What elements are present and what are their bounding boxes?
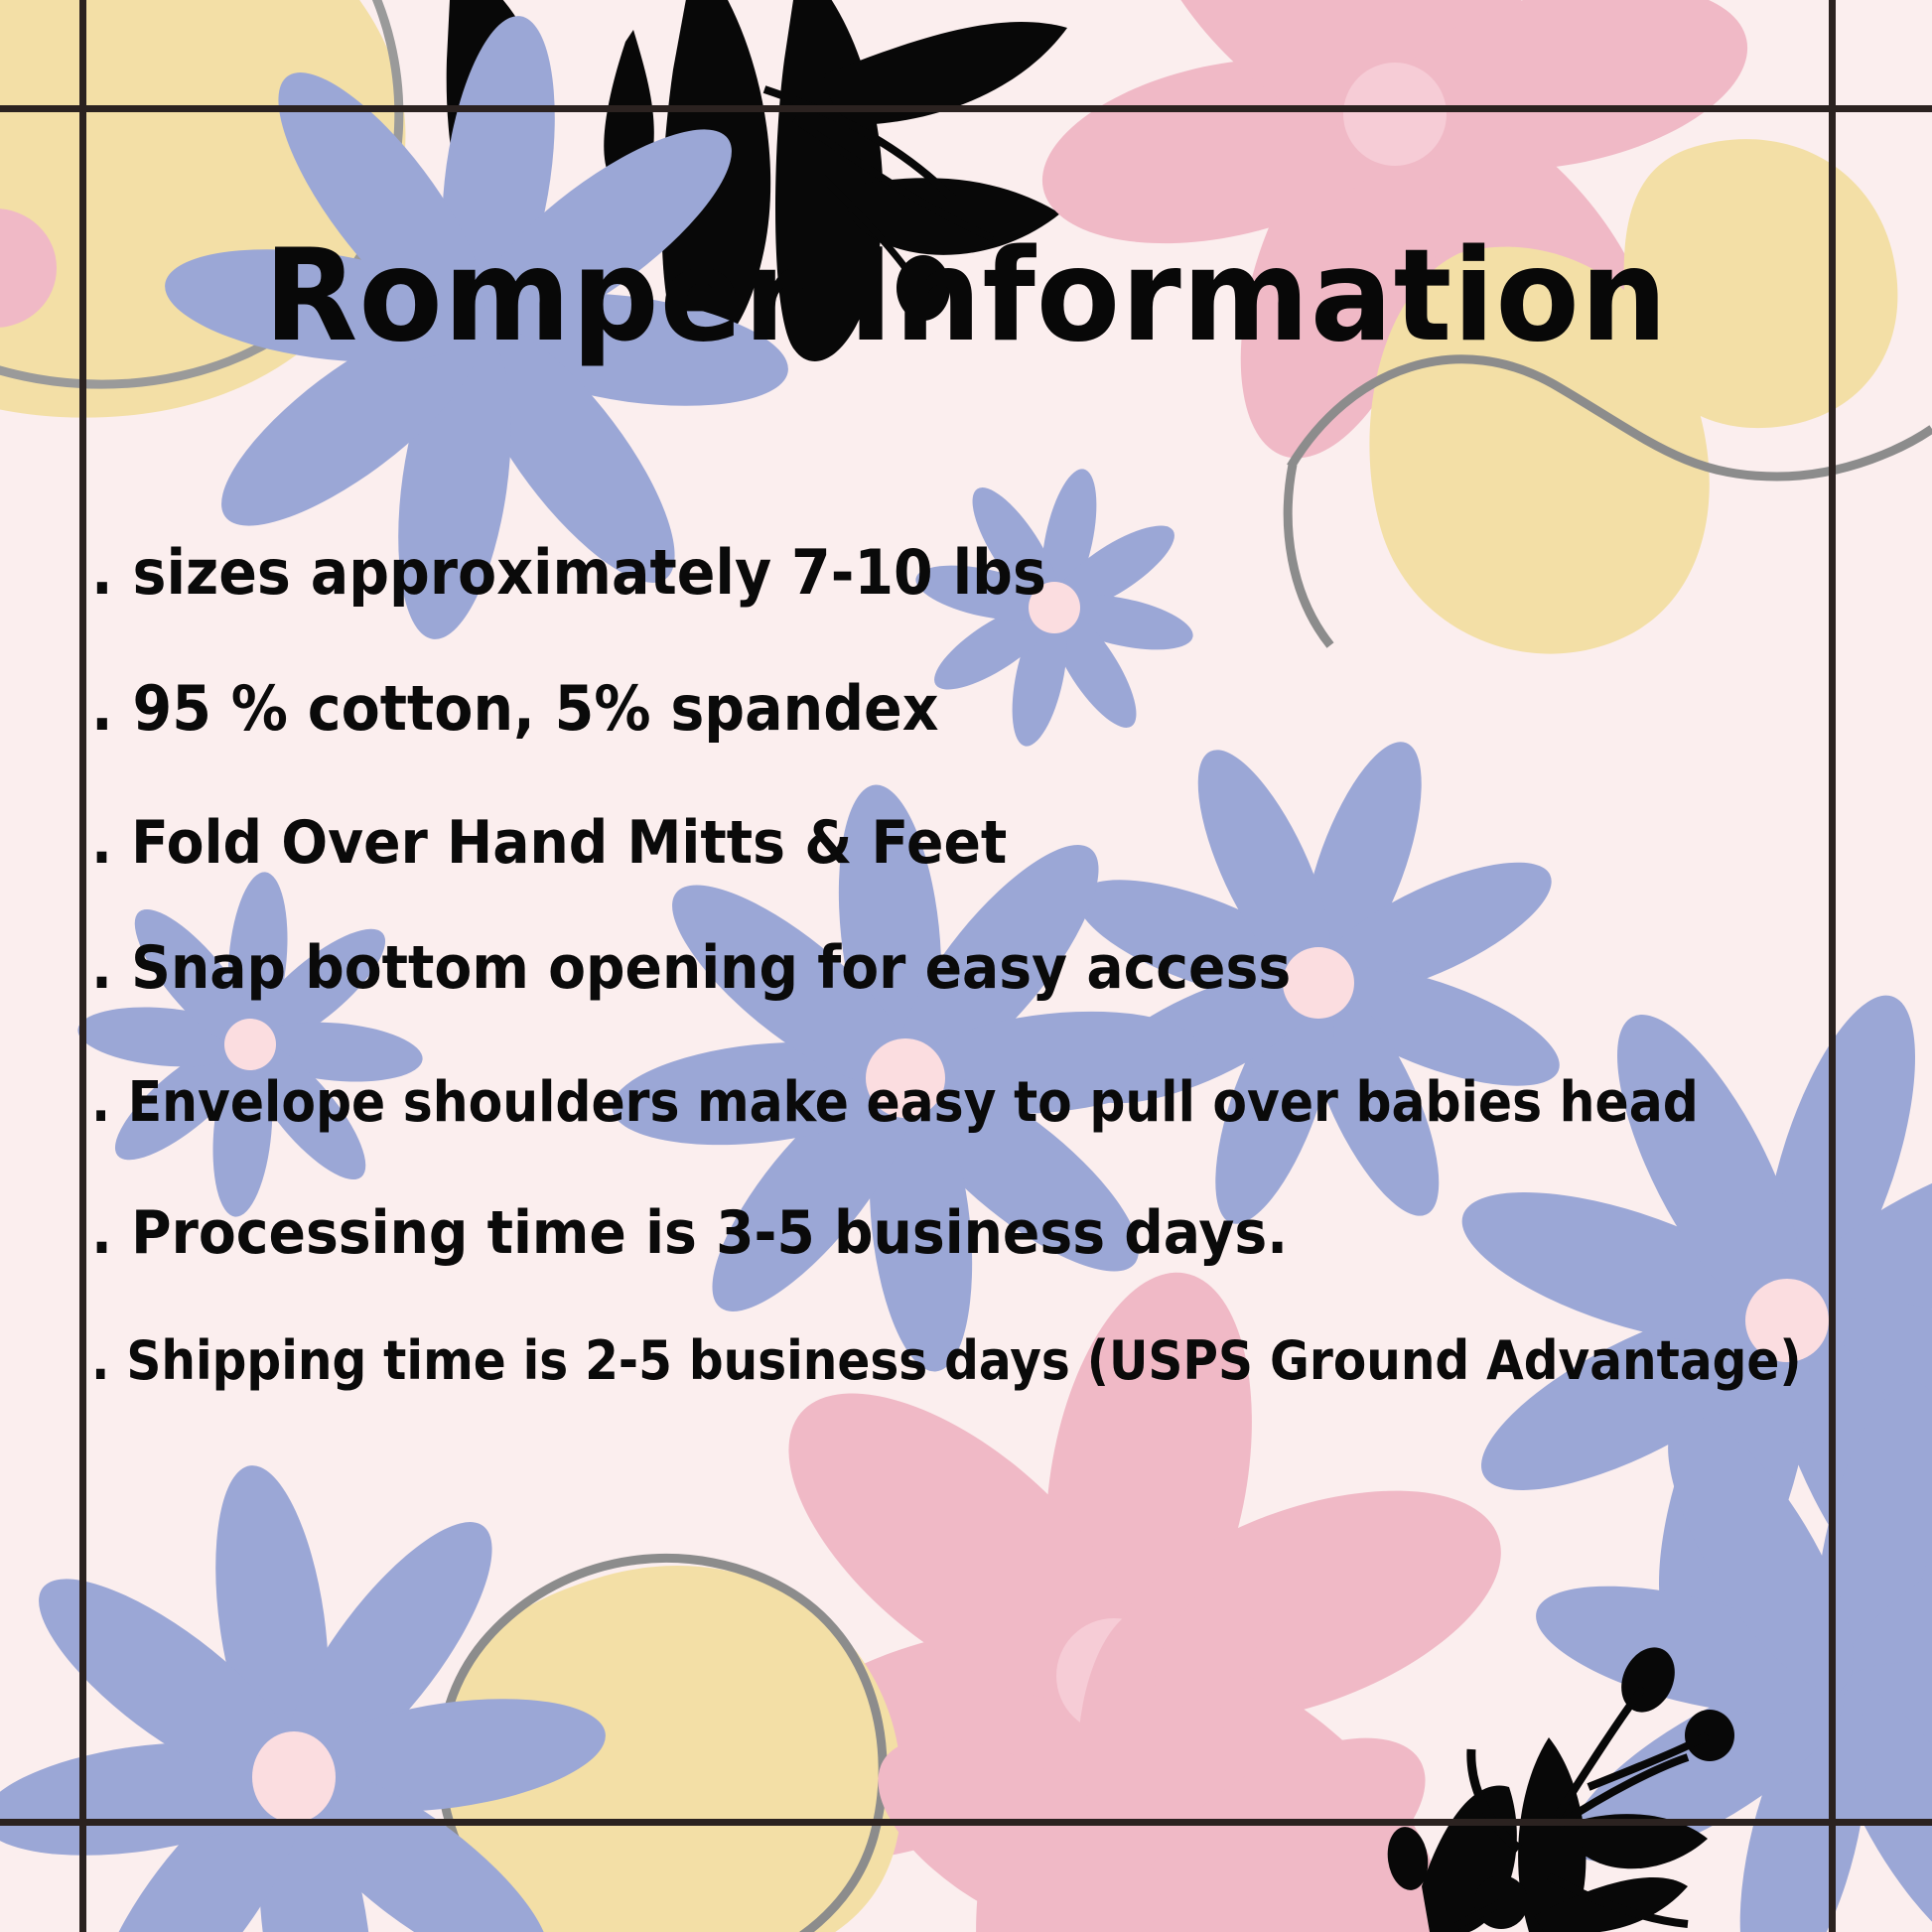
blue-daisy-bottom-left bbox=[0, 1422, 649, 1932]
blue-daisy-bottom-right bbox=[1460, 1307, 1932, 1932]
frame-line-top bbox=[0, 105, 1932, 112]
pink-petals-bottom-left-edge bbox=[1131, 1529, 1311, 1728]
list-item: . Snap bottom opening for easy access bbox=[91, 933, 1726, 1003]
black-botanical-sprig-bottom-right bbox=[1384, 1639, 1734, 1932]
list-item: . Fold Over Hand Mitts & Feet bbox=[91, 808, 1726, 878]
yellow-blob-bottom-center bbox=[444, 1566, 901, 1932]
gray-outline-blob-bottom-center bbox=[441, 1558, 883, 1932]
page-title: Romper Information bbox=[39, 230, 1893, 363]
pink-daisy-top-right-center bbox=[1343, 63, 1447, 166]
blue-daisy-bottom-left-center bbox=[252, 1731, 336, 1823]
gray-wave-line-top-right bbox=[1291, 359, 1932, 477]
pink-daisy-bottom-center-center bbox=[1056, 1618, 1172, 1733]
list-item: . sizes approximately 7-10 lbs bbox=[91, 536, 1726, 609]
list-item: . Envelope shoulders make easy to pull o… bbox=[91, 1070, 1691, 1135]
pink-daisy-bottom-left bbox=[846, 1606, 1457, 1932]
info-bullet-list: . sizes approximately 7-10 lbs . 95 % co… bbox=[91, 536, 1868, 1392]
poster-canvas: Romper Information . sizes approximately… bbox=[0, 0, 1932, 1932]
frame-line-bottom bbox=[0, 1819, 1932, 1826]
list-item: . 95 % cotton, 5% spandex bbox=[91, 672, 1726, 745]
list-item: . Processing time is 3-5 business days. bbox=[91, 1198, 1726, 1268]
list-item: . Shipping time is 2-5 business days (US… bbox=[91, 1329, 1691, 1392]
